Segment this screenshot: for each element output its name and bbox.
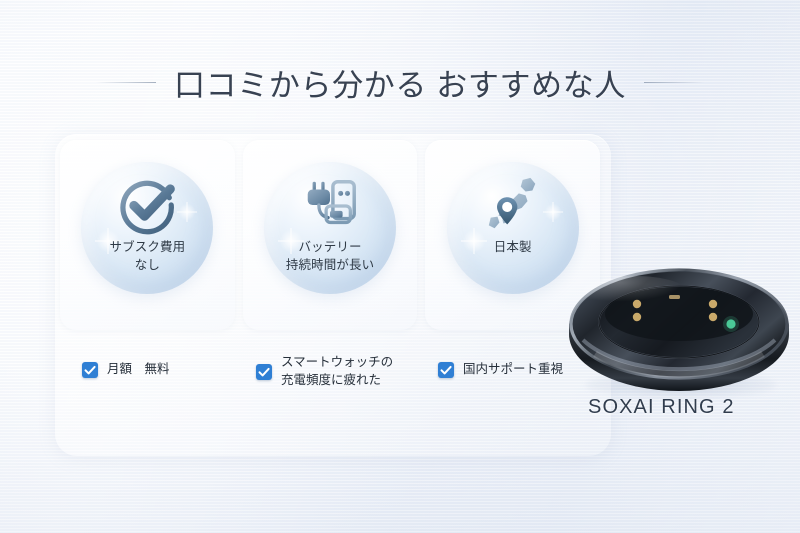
product-ring-image <box>565 262 793 394</box>
checklist-item-label: スマートウォッチの 充電頻度に疲れた <box>281 354 393 390</box>
product-name: SOXAI RING 2 <box>588 396 735 419</box>
checklist-label-line1: 国内サポート重視 <box>463 362 563 376</box>
charging-battery-phone-icon <box>299 174 361 236</box>
feature-card-subscription: サブスク費用 なし <box>60 140 235 330</box>
check-circle-icon <box>116 174 178 236</box>
feature-card-label-line2: 持続時間が長い <box>243 256 418 274</box>
feature-card-label-line1: サブスク費用 <box>109 240 185 254</box>
checklist-label-line1: 月額 無料 <box>107 362 170 376</box>
checkbox-checked-icon[interactable] <box>82 362 98 378</box>
title-rule-right <box>644 82 704 83</box>
title-row: 口コミから分かる おすすめな人 <box>0 54 800 110</box>
feature-card-label: サブスク費用 なし <box>60 238 235 274</box>
slide-canvas: 口コミから分かる おすすめな人 サブスク費用 なし <box>0 0 800 533</box>
checklist-label-line2: 充電頻度に疲れた <box>281 372 393 390</box>
title-rule-left <box>96 82 156 83</box>
checkbox-checked-icon[interactable] <box>438 362 454 378</box>
checklist-item-monthly-fee[interactable]: 月額 無料 <box>82 361 170 379</box>
checklist-item-domestic-support[interactable]: 国内サポート重視 <box>438 361 563 379</box>
feature-card-label-line1: バッテリー <box>298 240 361 254</box>
checkbox-checked-icon[interactable] <box>256 364 272 380</box>
feature-card-label: 日本製 <box>425 238 600 256</box>
feature-card-label-line2: なし <box>60 256 235 274</box>
checklist-label-line1: スマートウォッチの <box>281 355 393 369</box>
feature-card-label-line1: 日本製 <box>494 240 532 254</box>
checklist-row: 月額 無料 スマートウォッチの 充電頻度に疲れた 国内サポート重視 <box>60 352 616 410</box>
feature-card-label: バッテリー 持続時間が長い <box>243 238 418 274</box>
checklist-item-smartwatch-charging[interactable]: スマートウォッチの 充電頻度に疲れた <box>256 354 393 390</box>
checklist-item-label: 国内サポート重視 <box>463 361 563 379</box>
checklist-item-label: 月額 無料 <box>107 361 170 379</box>
japan-map-pin-icon <box>482 174 544 236</box>
page-title: 口コミから分かる おすすめな人 <box>174 60 626 105</box>
feature-card-battery: バッテリー 持続時間が長い <box>243 140 418 330</box>
feature-card-list: サブスク費用 なし <box>60 140 600 330</box>
